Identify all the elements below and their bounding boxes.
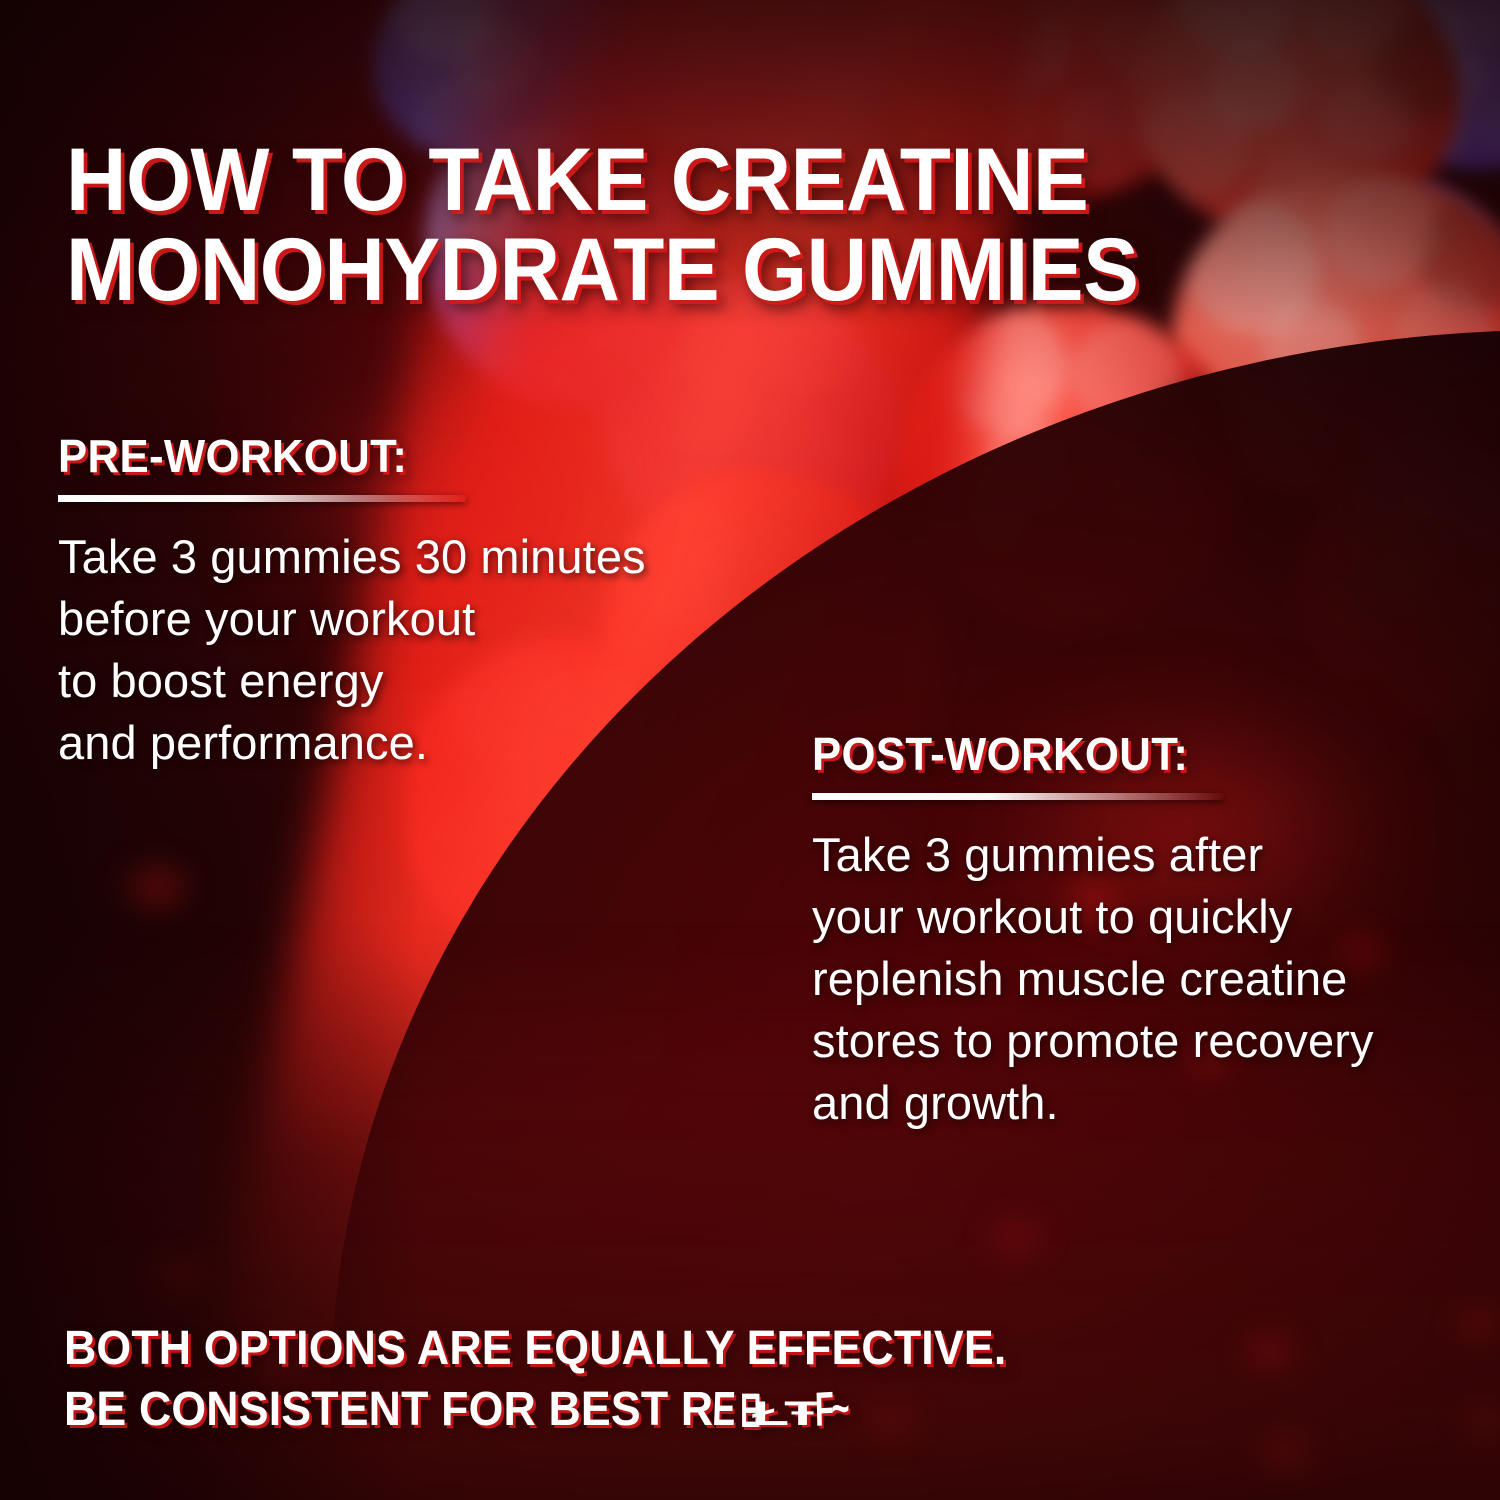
footer-line-2: BE CONSISTENT FOR BEST REEIŁŦF~ [64,1379,1347,1440]
footer-garbled-word: REEIŁŦF~ [681,1379,854,1440]
pre-workout-body-line: before your workout [58,588,758,650]
post-workout-body-line: stores to promote recovery [812,1010,1500,1072]
footer-callout: BOTH OPTIONS ARE EQUALLY EFFECTIVE. BE C… [64,1318,1347,1441]
pre-workout-body-line: Take 3 gummies 30 minutes [58,526,758,588]
pre-workout-body-line: and performance. [58,712,758,774]
pre-workout-divider [58,495,466,502]
poster-canvas: HOW TO TAKE CREATINE MONOHYDRATE GUMMIES… [0,0,1500,1500]
page-title: HOW TO TAKE CREATINE MONOHYDRATE GUMMIES [66,134,1382,316]
glitch-glyph-2: E [711,1379,734,1440]
post-workout-divider [812,793,1224,800]
glitch-glyph-5: F~ [814,1379,848,1442]
headline-line-1: HOW TO TAKE CREATINE [66,129,1088,229]
content-layer: HOW TO TAKE CREATINE MONOHYDRATE GUMMIES… [0,0,1500,1500]
headline-line-2: MONOHYDRATE GUMMIES [66,224,1382,315]
post-workout-body: Take 3 gummies after your workout to qui… [812,824,1500,1134]
post-workout-body-line: Take 3 gummies after [812,824,1500,886]
footer-line-1: BOTH OPTIONS ARE EQUALLY EFFECTIVE. [64,1318,1347,1379]
post-workout-body-line: replenish muscle creatine [812,948,1500,1010]
glitch-glyph-1: R [681,1379,710,1440]
section-post-workout: POST-WORKOUT: Take 3 gummies after your … [812,730,1500,1134]
post-workout-heading: POST-WORKOUT: [812,730,1477,778]
section-pre-workout: PRE-WORKOUT: Take 3 gummies 30 minutes b… [58,432,758,774]
glitch-glyph-4: ŁŦ [753,1392,817,1436]
pre-workout-heading: PRE-WORKOUT: [58,432,723,480]
pre-workout-body: Take 3 gummies 30 minutes before your wo… [58,526,758,774]
pre-workout-body-line: to boost energy [58,650,758,712]
footer-line-2-prefix: BE CONSISTENT FOR BEST [64,1383,681,1436]
post-workout-body-line: and growth. [812,1072,1500,1134]
post-workout-body-line: your workout to quickly [812,886,1500,948]
